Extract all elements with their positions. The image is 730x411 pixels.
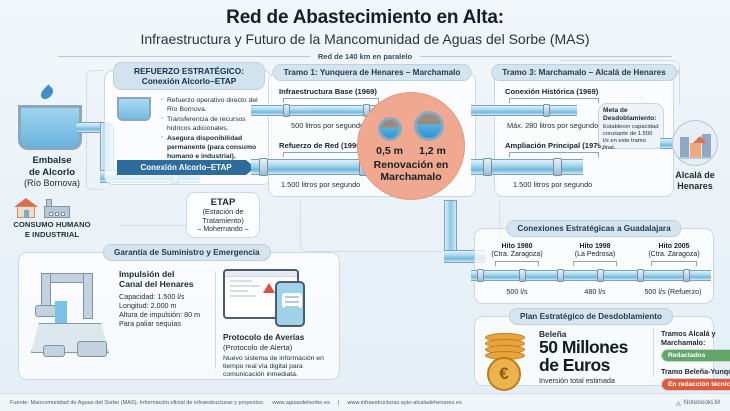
footer-separator: | [338, 400, 339, 406]
meta-title-line1: Meta de [599, 104, 663, 115]
plan-card: Plan Estratégico de Desdoblamiento € Bel… [474, 316, 714, 386]
phone-icon [275, 281, 305, 327]
diameter-old: 0,5 m [376, 145, 403, 157]
tramo1-row1-flow: 500 litros por segundo [291, 121, 364, 130]
status-0-toggle[interactable]: Redactados [661, 349, 730, 362]
coins-icon: € [481, 331, 537, 381]
brand: ◬ NotebookLM [676, 399, 720, 407]
tramo1-row2-label: Refuerzo de Red (1990) [279, 141, 363, 150]
consumption-icons [14, 198, 70, 218]
tramo1-row2-flow: 1.500 litros por segundo [281, 180, 360, 189]
pump-illustration [29, 271, 115, 367]
consumption-label: CONSUMO HUMANO E INDUSTRIAL [2, 220, 102, 239]
impulsion-spec: Altura de impulsión: 80 m [119, 310, 200, 319]
hito-1998: Hito 1998 (La Pedrosa) [557, 243, 633, 260]
diameter-new: 1,2 m [419, 145, 446, 157]
conexiones-title: Conexiones Estratégicas a Guadalajara [506, 220, 681, 237]
pipe-flange [543, 104, 550, 117]
tramo3-row1-flow: Máx. 280 litros por segundo [507, 121, 598, 130]
garantia-divider [215, 271, 216, 369]
alcala-city-icon [672, 120, 718, 166]
euro-coin-icon: € [487, 357, 521, 391]
footer-url-2[interactable]: www.infraestructuras.ayto-alcaladehenare… [347, 400, 461, 406]
roof [693, 136, 707, 143]
protocolo-detail: Nuevo sistema de información en tiempo r… [223, 355, 335, 380]
tramo3-row2-label: Ampliación Principal (1979) [505, 141, 604, 150]
footer-url-1[interactable]: www.aguasdelsorbe.es [272, 400, 330, 406]
amount-line2: de Euros [539, 357, 649, 375]
rule-line-right [420, 56, 672, 57]
tramo1-title: Tramo 1: Yunquera de Henares – Marchamal… [273, 64, 472, 81]
amount-line1: 50 Millones [539, 339, 649, 357]
pipe-flange [553, 158, 562, 176]
page-subtitle: Infraestructura y Futuro de la Mancomuni… [0, 31, 730, 47]
protocolo-heading: Protocolo de Averías [223, 333, 335, 343]
meta-desdoblamiento-card: Meta de Desdoblamiento: Establecer capac… [598, 103, 664, 149]
magnifier-renovacion: 0,5 m 1,2 m Renovación en Marchamalo [357, 92, 465, 200]
tramo3-row2-measure [509, 152, 599, 157]
conexiones-pipe [471, 270, 711, 281]
refuerzo-bullet: Asegura disponibilidad permanente (para … [161, 135, 267, 161]
brand-label: NotebookLM [684, 399, 720, 406]
etap-sub-line2: Tratamiento) [187, 217, 259, 226]
refuerzo-title-line2: Conexión Alcorlo–ETAP [118, 76, 260, 86]
hito-place: (Ctra. Zaragoza) [635, 251, 713, 259]
protocolo-subheading: (Protocolo de Alerta) [223, 343, 335, 352]
reservoir-name-line1: Embalse [6, 155, 98, 167]
alcala-label-line1: Alcalá de [664, 170, 726, 181]
reservoir-name-line2: de Alcorlo [6, 167, 98, 179]
hito-measure [651, 261, 697, 266]
tramo3-title: Tramo 3: Marchamalo – Alcalá de Henares [491, 64, 677, 81]
house-icon [14, 198, 38, 218]
magnifier-caption-line1: Renovación en [358, 159, 464, 171]
plan-title: Plan Estratégico de Desdoblamiento [509, 308, 673, 325]
status-0-label: Tramos Alcalá y Marchamalo: [661, 329, 730, 347]
tramo3-row2-flow: 1.500 litros por segundo [513, 180, 592, 189]
meta-detail: Establecer capacidad constante de 1.500 … [599, 123, 663, 153]
pipe-section-new-icon [414, 111, 444, 141]
alert-triangle-icon [263, 283, 275, 293]
devices-illustration [223, 269, 335, 329]
garantia-title: Garantía de Suministro y Emergencia [103, 244, 271, 261]
tramo3-pipe-historica [471, 105, 577, 116]
refuerzo-title: REFUERZO ESTRATÉGICO: Conexión Alcorlo–E… [113, 62, 265, 90]
footer-source: Fuente: Mancomunidad de Aguas del Sorbe … [10, 400, 264, 406]
impulsion-spec: Para paliar sequías [119, 319, 200, 328]
notebooklm-icon: ◬ [676, 399, 681, 407]
reservoir-river: (Río Bornova) [6, 178, 98, 190]
hito-place: (La Pedrosa) [557, 251, 633, 259]
hito-measure [573, 261, 617, 266]
hito-1980-flow: 500 l/s [479, 287, 555, 296]
plan-divider [653, 329, 654, 377]
hito-1998-flow: 480 l/s [557, 287, 633, 296]
conexion-alcorlo-etap-ribbon[interactable]: Conexión Alcorlo–ETAP [117, 160, 255, 175]
mini-reservoir-icon [117, 99, 151, 121]
network-length-label: Red de 140 km en paralelo [318, 52, 412, 61]
alcala-label: Alcalá de Henares [664, 170, 726, 191]
status-block: Tramos Alcalá y Marchamalo: Redactados T… [661, 329, 730, 396]
footer: Fuente: Mancomunidad de Aguas del Sorbe … [0, 393, 730, 411]
status-0-value: Redactados [662, 350, 730, 361]
hito-1980: Hito 1980 (Ctra. Zaragoza) [479, 243, 555, 260]
rule-line-left [58, 56, 310, 57]
consumption-label-line1: CONSUMO HUMANO [2, 220, 102, 230]
hito-measure [495, 261, 539, 266]
protocolo-block: Protocolo de Averías (Protocolo de Alert… [223, 269, 335, 380]
impulsion-spec: Longitud: 2.000 m [119, 301, 200, 310]
tramo1-row2-measure [283, 152, 367, 157]
schematic-line-2 [300, 200, 500, 252]
hito-name: Hito 1980 [479, 243, 555, 251]
status-1-value: En redacción técnica [662, 379, 730, 390]
infographic-root: Red de Abastecimiento en Alta: Infraestr… [0, 0, 730, 411]
alcala-label-line2: Henares [664, 181, 726, 192]
pipe-flange [283, 104, 290, 117]
hito-2005: Hito 2005 (Ctra. Zaragoza) [635, 243, 713, 260]
water-drop-icon [39, 85, 56, 102]
impulsion-heading-line1: Impulsión del [119, 269, 200, 279]
building [680, 137, 689, 157]
diameter-row: 0,5 m 1,2 m [358, 145, 464, 157]
reservoir-icon [18, 108, 82, 150]
tramo3-row1-measure [509, 98, 599, 103]
pipe-section-old-icon [378, 117, 402, 141]
etap-card: ETAP (Estación de Tratamiento) – Moherna… [186, 192, 260, 238]
status-1-label: Tramo Beleña-Yunquera: [661, 367, 730, 376]
meta-title-line2: Desdoblamiento: [599, 115, 663, 123]
lens-row [358, 93, 464, 141]
pipe-flange [483, 158, 492, 176]
impulsion-spec: Capacidad: 1.500 l/s [119, 292, 200, 301]
hito-name: Hito 1998 [557, 243, 633, 251]
amount-caption: Inversión total estimada [539, 376, 649, 385]
page-title: Red de Abastecimiento en Alta: [0, 7, 730, 29]
impulsion-heading-line2: Canal del Henares [119, 279, 200, 289]
refuerzo-bullet: Transferencia de recursos hídricos adici… [161, 116, 267, 133]
magnifier-caption-line2: Marchamalo [358, 171, 464, 183]
factory-icon [44, 199, 70, 218]
refuerzo-card: REFUERZO ESTRATÉGICO: Conexión Alcorlo–E… [104, 70, 272, 185]
message-bubble-icon [282, 293, 302, 308]
pipe-flange [259, 158, 268, 176]
garantia-card: Garantía de Suministro y Emergencia Impu… [18, 252, 340, 380]
hito-2005-flow: 500 l/s (Refuerzo) [631, 287, 715, 296]
building [690, 143, 701, 157]
consumption-label-line2: E INDUSTRIAL [2, 230, 102, 240]
header: Red de Abastecimiento en Alta: Infraestr… [0, 0, 730, 61]
etap-place: – Mohernando – [187, 226, 259, 233]
impulsion-text: Impulsión del Canal del Henares Capacida… [119, 269, 200, 328]
tramo3-pipe-ampliacion [471, 159, 583, 175]
reservoir-label: Embalse de Alcorlo (Río Bornova) [6, 155, 98, 190]
hito-place: (Ctra. Zaragoza) [479, 251, 555, 259]
hito-name: Hito 2005 [635, 243, 713, 251]
status-1-toggle[interactable]: En redacción técnica [661, 378, 730, 391]
investment-block: Beleña 50 Millones de Euros Inversión to… [539, 329, 649, 385]
conexiones-card: Conexiones Estratégicas a Guadalajara Hi… [474, 228, 714, 304]
tramo3-row1-label: Conexión Histórica (1969) [505, 87, 598, 96]
refuerzo-title-line1: REFUERZO ESTRATÉGICO: [118, 66, 260, 76]
